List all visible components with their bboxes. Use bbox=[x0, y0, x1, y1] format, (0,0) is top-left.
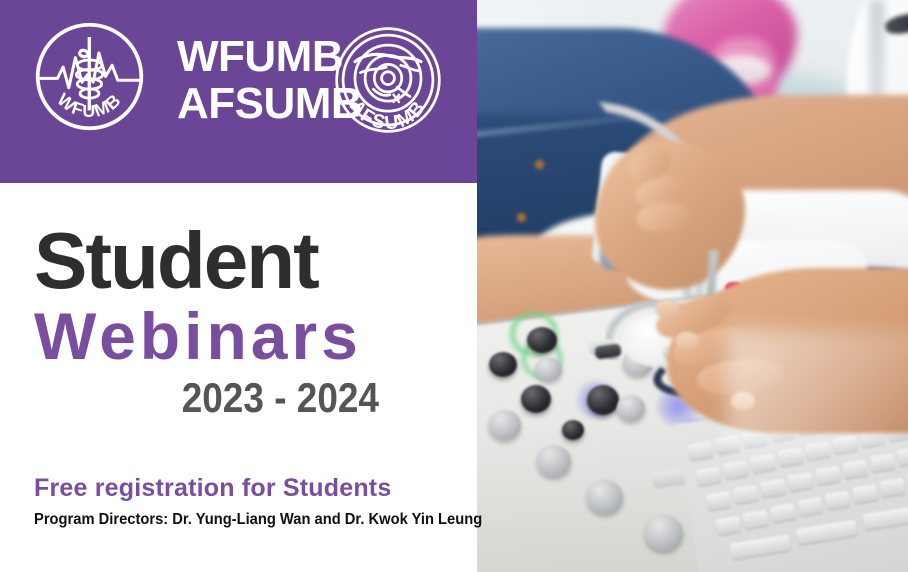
photo-console-knob bbox=[489, 410, 521, 440]
photo-keyboard-key bbox=[879, 478, 905, 498]
photo-operator-fingernail bbox=[675, 332, 699, 350]
photo-console-knob bbox=[527, 327, 557, 353]
photo-jeans-rivet bbox=[517, 213, 526, 222]
photo-console-glare bbox=[727, 330, 908, 450]
photo-console-knob bbox=[645, 515, 683, 551]
photo-keyboard-key bbox=[815, 466, 841, 486]
photo-keyboard-key bbox=[687, 441, 713, 461]
organization-names: WFUMB AFSUMB bbox=[177, 33, 362, 127]
photo-keyboard-key bbox=[770, 503, 796, 523]
photo-console-knob bbox=[587, 385, 619, 415]
photo-console-knob bbox=[521, 385, 551, 413]
registration-note: Free registration for Students bbox=[34, 474, 521, 502]
year-range: 2023 - 2024 bbox=[75, 376, 379, 420]
photo-keyboard-key bbox=[743, 510, 769, 530]
title-block: Student Webinars 2023 - 2024 bbox=[34, 222, 464, 420]
photo-keyboard-key bbox=[852, 484, 878, 504]
org-name-wfumb: WFUMB bbox=[177, 33, 362, 80]
wfumb-logo-icon: WFUMB bbox=[33, 20, 146, 133]
photo-keyboard-key bbox=[777, 447, 803, 467]
photo-console-knob bbox=[535, 357, 562, 381]
photo-console-knob bbox=[489, 352, 517, 377]
photo-console-knob bbox=[587, 480, 623, 514]
webinar-promo-poster: WFUMB AFSUMB WFUM bbox=[0, 0, 908, 572]
photo-keyboard-key bbox=[862, 505, 908, 530]
photo-keyboard-key bbox=[695, 466, 721, 486]
photo-keyboard-key bbox=[750, 454, 776, 474]
photo-keyboard-key bbox=[705, 491, 731, 511]
photo-operator-fingernail bbox=[655, 300, 679, 318]
photo-keyboard-key bbox=[825, 490, 851, 510]
photo-keyboard-key bbox=[796, 520, 858, 545]
photo-keyboard-key bbox=[869, 453, 895, 473]
photo-jeans-rivet bbox=[535, 160, 544, 169]
photo-keyboard-key bbox=[723, 460, 749, 480]
program-directors: Program Directors: Dr. Yung-Liang Wan an… bbox=[34, 511, 482, 529]
photo-keyboard-key bbox=[842, 459, 868, 479]
page-title: Student bbox=[34, 222, 464, 300]
photo-console-knob bbox=[562, 420, 584, 440]
photo-keyboard-key bbox=[715, 516, 741, 536]
photo-keyboard-key bbox=[729, 534, 791, 559]
footer-block: Free registration for Students Program D… bbox=[34, 474, 521, 529]
photo-console-knob bbox=[537, 445, 571, 477]
photo-console-knob bbox=[617, 395, 645, 421]
photo-keyboard-key bbox=[797, 497, 823, 517]
ultrasound-photo bbox=[477, 0, 908, 572]
photo-keyboard-key bbox=[733, 485, 759, 505]
photo-keyboard-key bbox=[787, 472, 813, 492]
org-name-afsumb: AFSUMB bbox=[177, 80, 362, 127]
header-band: WFUMB AFSUMB WFUM bbox=[0, 0, 477, 183]
page-subtitle: Webinars bbox=[34, 300, 464, 372]
photo-keyboard-key bbox=[760, 478, 786, 498]
